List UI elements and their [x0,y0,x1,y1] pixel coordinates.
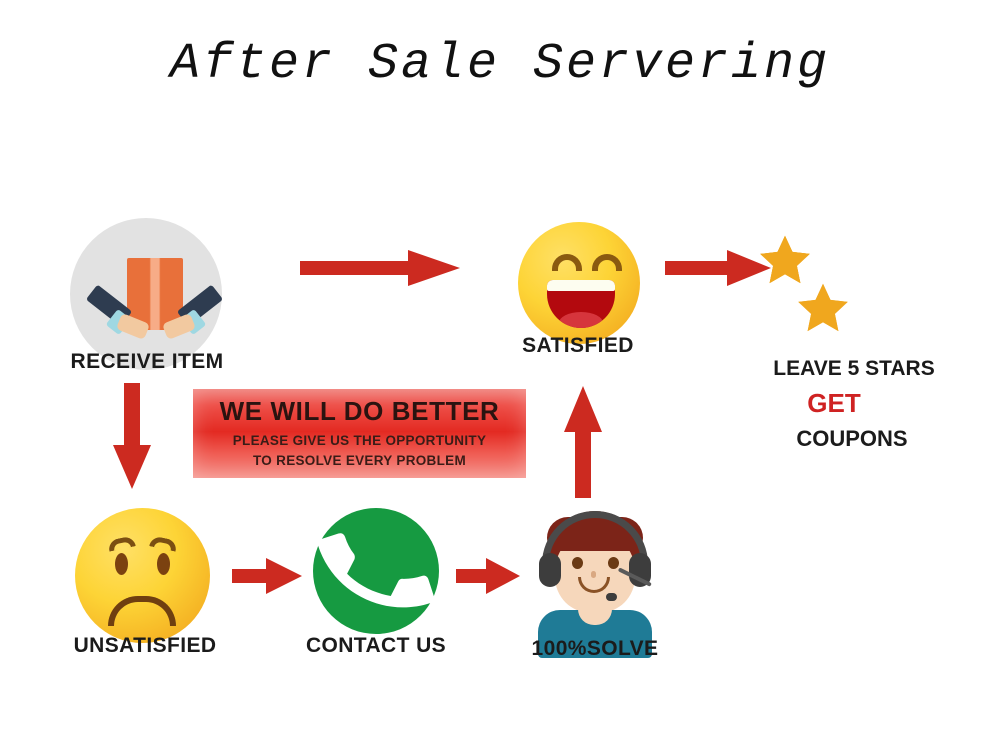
phone-icon [313,508,439,634]
agent-eye-left [572,557,583,569]
happy-eye-right [592,254,622,271]
frown-mouth [108,596,176,626]
sad-brow-left [107,535,136,551]
arrow-unsatisfied-to-contact [232,556,302,596]
stars-coupons-block: LEAVE 5 STARS GET COUPONS [748,232,960,452]
node-unsatisfied: UNSATISFIED [70,508,220,678]
sad-face-icon [75,508,210,643]
arrow-receive-to-unsatisfied [109,383,155,489]
node-receive-item: RECEIVE ITEM [62,218,232,378]
coupons-label: COUPONS [748,426,956,452]
node-label-solve: 100%SOLVE [494,637,696,661]
leave-5-stars-label: LEAVE 5 STARS [748,357,960,381]
banner-title: WE WILL DO BETTER [220,396,500,427]
sad-eye-left [115,553,128,575]
arrow-solve-to-satisfied [560,386,606,498]
banner-subtitle-line1: PLEASE GIVE US THE OPPORTUNITY [233,431,487,451]
package-in-hands-icon [70,218,222,370]
open-mouth [547,280,615,328]
arrow-satisfied-to-stars [665,248,771,288]
teeth [547,280,615,291]
we-will-do-better-banner: WE WILL DO BETTER PLEASE GIVE US THE OPP… [193,389,526,478]
arrow-receive-to-satisfied [300,248,460,288]
get-label: GET [748,388,920,419]
node-satisfied: SATISFIED [508,222,648,382]
arrow-contact-to-solve [456,556,520,596]
headset-earcup-left [539,553,561,587]
node-solve: 100%SOLVE [520,505,670,680]
after-sale-servicing-diagram: After Sale Servering RECEIVE ITEM SATISF… [0,0,1000,750]
node-label-contact-us: CONTACT US [273,634,479,658]
banner-subtitle-line2: TO RESOLVE EVERY PROBLEM [253,451,466,471]
tongue [559,312,603,328]
node-label-unsatisfied: UNSATISFIED [38,634,252,658]
page-title: After Sale Servering [0,36,1000,93]
sad-brow-right [149,535,178,551]
happy-face-icon [518,222,640,344]
parcel-tape [151,258,160,330]
sad-eye-right [157,553,170,575]
agent-eye-right [608,557,619,569]
headset-mic-tip [606,593,617,601]
node-label-receive-item: RECEIVE ITEM [42,350,252,374]
node-label-satisfied: SATISFIED [494,334,662,358]
node-contact-us: CONTACT US [305,508,447,678]
happy-eye-left [552,254,582,271]
